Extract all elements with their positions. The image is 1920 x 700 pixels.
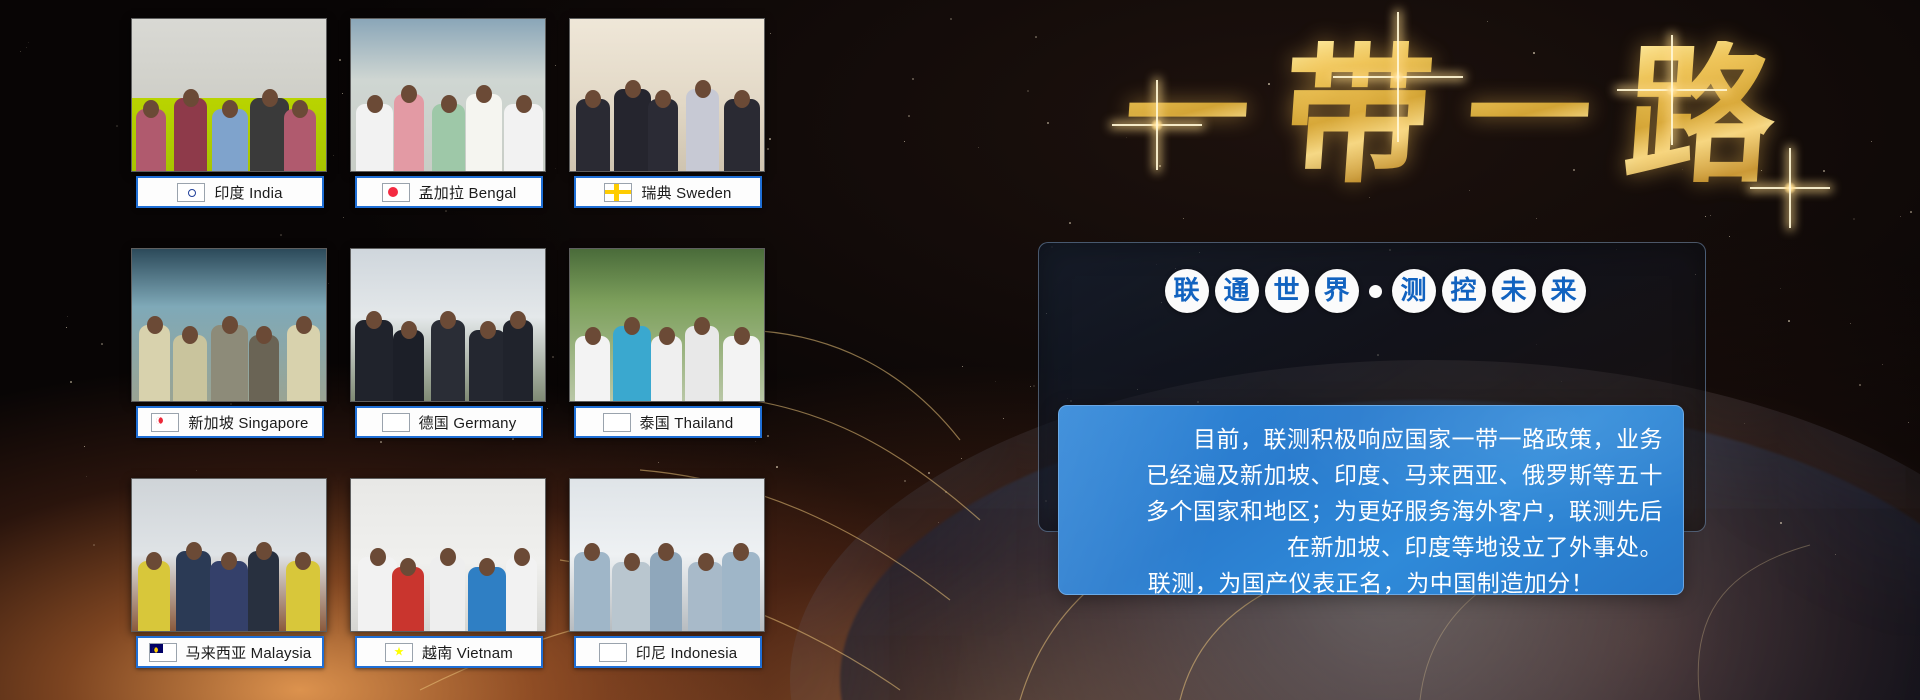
- flag-bangladesh-icon: [382, 183, 410, 202]
- country-label: 印尼 Indonesia: [636, 642, 738, 663]
- slogan-char: 界: [1315, 269, 1359, 313]
- title-char: 一: [1121, 54, 1254, 178]
- country-caption[interactable]: 泰国 Thailand: [574, 406, 762, 438]
- country-card[interactable]: 泰国 Thailand: [569, 248, 765, 478]
- country-caption[interactable]: 印度 India: [136, 176, 324, 208]
- country-caption[interactable]: 马来西亚 Malaysia: [136, 636, 324, 668]
- description-tagline: 联测，为国产仪表正名，为中国制造加分！: [1079, 566, 1663, 595]
- photo-sweden: [569, 18, 765, 172]
- company-slogan: 联通世界测控未来: [1135, 262, 1615, 320]
- country-label: 德国 Germany: [419, 412, 517, 433]
- description-box: 目前，联测积极响应国家一带一路政策，业务 已经遍及新加坡、印度、马来西亚、俄罗斯…: [1058, 405, 1684, 595]
- country-card[interactable]: 孟加拉 Bengal: [350, 18, 546, 248]
- flag-singapore-icon: [151, 413, 179, 432]
- country-card[interactable]: 印度 India: [131, 18, 327, 248]
- flag-malaysia-icon: [149, 643, 177, 662]
- description-line: 已经遍及新加坡、印度、马来西亚、俄罗斯等五十: [1079, 458, 1663, 494]
- country-card[interactable]: 瑞典 Sweden: [569, 18, 765, 248]
- country-label: 孟加拉 Bengal: [419, 182, 517, 203]
- country-caption[interactable]: 越南 Vietnam: [355, 636, 543, 668]
- country-card[interactable]: 越南 Vietnam: [350, 478, 546, 700]
- photo-thailand: [569, 248, 765, 402]
- belt-and-road-banner: 印度 India孟加拉 Bengal瑞典 Sweden新加坡 Singapore…: [0, 0, 1920, 700]
- title-char: 一: [1463, 54, 1596, 178]
- description-line: 在新加坡、印度等地设立了外事处。: [1079, 530, 1663, 566]
- photo-bengal: [350, 18, 546, 172]
- photo-malaysia: [131, 478, 327, 632]
- description-line: 目前，联测积极响应国家一带一路政策，业务: [1079, 422, 1663, 458]
- country-caption[interactable]: 孟加拉 Bengal: [355, 176, 543, 208]
- country-photo-grid: 印度 India孟加拉 Bengal瑞典 Sweden新加坡 Singapore…: [131, 18, 765, 700]
- country-caption[interactable]: 德国 Germany: [355, 406, 543, 438]
- country-label: 马来西亚 Malaysia: [186, 642, 312, 663]
- flag-germany-icon: [382, 413, 410, 432]
- flag-indonesia-icon: [599, 643, 627, 662]
- title-char: 带: [1278, 41, 1439, 191]
- description-line: 多个国家和地区；为更好服务海外客户，联测先后: [1079, 494, 1663, 530]
- photo-germany: [350, 248, 546, 402]
- slogan-separator-dot: [1369, 285, 1382, 298]
- photo-singapore: [131, 248, 327, 402]
- country-caption[interactable]: 新加坡 Singapore: [136, 406, 324, 438]
- title-char: 路: [1620, 41, 1781, 191]
- photo-india: [131, 18, 327, 172]
- photo-indonesia: [569, 478, 765, 632]
- country-label: 印度 India: [214, 182, 282, 203]
- country-card[interactable]: 德国 Germany: [350, 248, 546, 478]
- photo-vietnam: [350, 478, 546, 632]
- slogan-char: 未: [1492, 269, 1536, 313]
- flag-india-icon: [177, 183, 205, 202]
- country-card[interactable]: 新加坡 Singapore: [131, 248, 327, 478]
- country-label: 越南 Vietnam: [422, 642, 513, 663]
- flag-thailand-icon: [603, 413, 631, 432]
- country-card[interactable]: 印尼 Indonesia: [569, 478, 765, 700]
- slogan-char: 通: [1215, 269, 1259, 313]
- slogan-char: 来: [1542, 269, 1586, 313]
- country-caption[interactable]: 印尼 Indonesia: [574, 636, 762, 668]
- slogan-char: 控: [1442, 269, 1486, 313]
- flag-sweden-icon: [604, 183, 632, 202]
- country-label: 瑞典 Sweden: [641, 182, 731, 203]
- slogan-char: 测: [1392, 269, 1436, 313]
- slogan-char: 世: [1265, 269, 1309, 313]
- country-card[interactable]: 马来西亚 Malaysia: [131, 478, 327, 700]
- belt-and-road-title: 一带一路: [1030, 8, 1870, 223]
- flag-vietnam-icon: [385, 643, 413, 662]
- slogan-char: 联: [1165, 269, 1209, 313]
- country-label: 泰国 Thailand: [640, 412, 734, 433]
- country-label: 新加坡 Singapore: [188, 412, 308, 433]
- country-caption[interactable]: 瑞典 Sweden: [574, 176, 762, 208]
